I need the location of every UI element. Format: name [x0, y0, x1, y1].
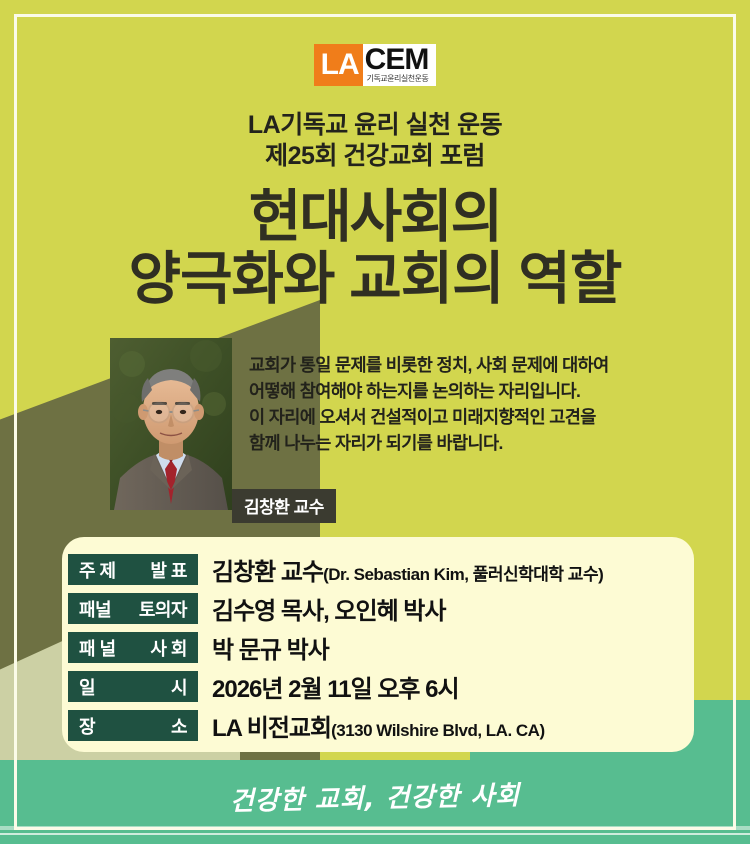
row-value-panelists: 김수영 목사, 오인혜 박사 — [198, 591, 445, 626]
blurb-line-1: 교회가 통일 문제를 비롯한 정치, 사회 문제에 대하여 — [249, 352, 699, 378]
row-label-datetime-a: 일 — [79, 674, 95, 700]
event-description: 교회가 통일 문제를 비롯한 정치, 사회 문제에 대하여 어떻해 참여해야 하… — [249, 352, 699, 456]
row-value-topic: 김창환 교수(Dr. Sebastian Kim, 풀러신학대학 교수) — [198, 552, 603, 587]
page-title: 현대사회의 양극화와 교회의 역할 — [0, 186, 750, 310]
blurb-line-3: 이 자리에 오셔서 건설적이고 미래지향적인 고견을 — [249, 404, 699, 430]
table-row: 주 제 발 표 김창환 교수(Dr. Sebastian Kim, 풀러신학대학… — [68, 552, 708, 587]
row-value-datetime-main: 2026년 2월 11일 오후 6시 — [212, 676, 459, 703]
row-value-moderator-main: 박 문규 박사 — [212, 637, 329, 664]
row-value-datetime: 2026년 2월 11일 오후 6시 — [198, 669, 459, 704]
row-label-datetime-b: 시 — [171, 674, 187, 700]
row-label-venue-a: 장 — [79, 713, 95, 739]
poster-root: LA CEM 기독교윤리실천운동 LA기독교 윤리 실천 운동 제25회 건강교… — [0, 0, 750, 844]
logo-subtitle: 기독교윤리실천운동 — [365, 74, 429, 84]
row-label-panelists-a: 패널 — [79, 596, 111, 622]
row-value-venue-main: LA 비전교회 — [212, 715, 331, 742]
lacem-logo: LA CEM 기독교윤리실천운동 — [0, 44, 750, 86]
logo-mark-cem: CEM — [365, 46, 429, 74]
footer-stripe-lower — [0, 833, 750, 835]
title-line-1: 현대사회의 — [0, 186, 750, 248]
row-label-venue-b: 소 — [171, 713, 187, 739]
row-value-panelists-main: 김수영 목사, 오인혜 박사 — [212, 598, 445, 625]
row-value-venue-sub: (3130 Wilshire Blvd, LA. CA) — [331, 721, 545, 740]
row-value-moderator: 박 문규 박사 — [198, 630, 329, 665]
row-label-panelists: 패널 토의자 — [68, 593, 198, 624]
speaker-portrait — [110, 338, 232, 510]
event-kicker: LA기독교 윤리 실천 운동 제25회 건강교회 포럼 — [0, 110, 750, 172]
row-value-topic-main: 김창환 교수 — [212, 559, 323, 586]
title-line-2: 양극화와 교회의 역할 — [0, 248, 750, 310]
blurb-line-2: 어떻해 참여해야 하는지를 논의하는 자리입니다. — [249, 378, 699, 404]
speaker-name-badge: 김창환 교수 — [232, 489, 336, 523]
row-value-venue: LA 비전교회(3130 Wilshire Blvd, LA. CA) — [198, 708, 545, 743]
row-label-topic-a: 주 제 — [79, 557, 116, 583]
row-label-panelists-b: 토의자 — [139, 596, 187, 622]
table-row: 패 널 사 회 박 문규 박사 — [68, 630, 708, 665]
row-label-moderator-b: 사 회 — [150, 635, 187, 661]
row-label-moderator-a: 패 널 — [79, 635, 116, 661]
kicker-line-1: LA기독교 윤리 실천 운동 — [0, 110, 750, 141]
row-label-topic-b: 발 표 — [150, 557, 187, 583]
row-label-topic: 주 제 발 표 — [68, 554, 198, 585]
event-details-table: 주 제 발 표 김창환 교수(Dr. Sebastian Kim, 풀러신학대학… — [68, 552, 708, 747]
table-row: 일 시 2026년 2월 11일 오후 6시 — [68, 669, 708, 704]
blurb-line-4: 함께 나누는 자리가 되기를 바랍니다. — [249, 430, 699, 456]
table-row: 패널 토의자 김수영 목사, 오인혜 박사 — [68, 591, 708, 626]
footer-stripe-upper — [0, 826, 750, 830]
table-row: 장 소 LA 비전교회(3130 Wilshire Blvd, LA. CA) — [68, 708, 708, 743]
kicker-line-2: 제25회 건강교회 포럼 — [0, 141, 750, 172]
row-label-venue: 장 소 — [68, 710, 198, 741]
row-label-datetime: 일 시 — [68, 671, 198, 702]
logo-mark-la: LA — [314, 44, 363, 86]
row-label-moderator: 패 널 사 회 — [68, 632, 198, 663]
row-value-topic-sub: (Dr. Sebastian Kim, 풀러신학대학 교수) — [323, 565, 603, 584]
